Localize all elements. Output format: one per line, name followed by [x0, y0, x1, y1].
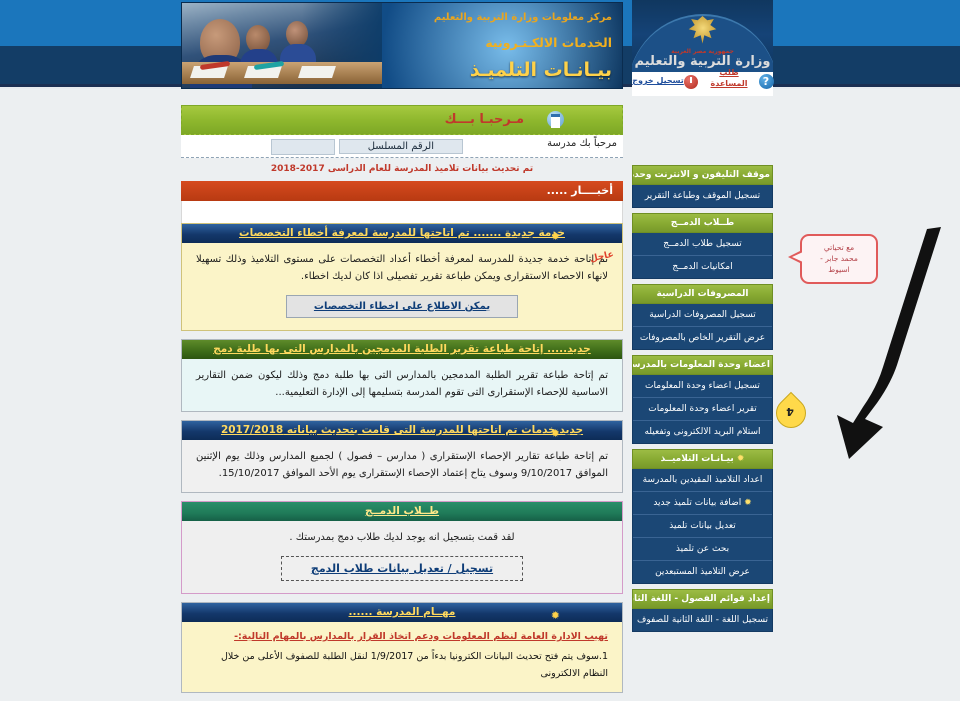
- sidebar-group-items: تسجيل اللغة - اللغة الثانية للصفوف: [632, 609, 773, 632]
- sidebar-group-header: ✹ بيـانـات التلاميــذ: [632, 449, 773, 469]
- question-mark-icon[interactable]: ?: [759, 74, 774, 89]
- sidebar-group-merge-students: طــلاب الدمــج تسجيل طلاب الدمــج امكاني…: [632, 213, 773, 279]
- school-tasks-title: مهــام المدرسة ......: [349, 606, 456, 618]
- announcement-card-title: جديد..... إتاحة طباعة تقرير الطلبة المدم…: [213, 343, 591, 355]
- sidebar-item-register-status-report[interactable]: تسجيل الموقف وطباعة التقرير: [633, 185, 772, 207]
- serial-number-field[interactable]: [271, 139, 335, 155]
- announcement-card-text: تم إتاحة خدمة جديدة للمدرسة لمعرفة أخطاء…: [196, 254, 608, 282]
- sidebar-group-items: اعداد التلاميذ المقيدين بالمدرسة ✹ اضافة…: [632, 469, 773, 584]
- merge-students-title: طــلاب الدمــج: [365, 505, 439, 517]
- sidebar-item-register-school-fees[interactable]: تسجيل المصروفات الدراسية: [633, 304, 772, 327]
- announcement-card-title: خدمة جديدة ....... تم اتاحتها للمدرسة لم…: [239, 227, 565, 239]
- sidebar-group-items: تسجيل طلاب الدمــج امكانيات الدمــج: [632, 233, 773, 279]
- school-welcome-label: مرحباً بك مدرسة: [547, 138, 617, 149]
- ministry-logo-block: جمهورية مصر العربية وزارة التربية والتعل…: [632, 0, 773, 72]
- banner-paper-3: [298, 66, 336, 78]
- school-tasks-item-1: 1.سوف يتم فتح تحديث البيانات الكترونيا ب…: [196, 648, 608, 682]
- sidebar-group-student-data: ✹ بيـانـات التلاميــذ اعداد التلاميذ الم…: [632, 449, 773, 584]
- sidebar-item-enrolled-count[interactable]: اعداد التلاميذ المقيدين بالمدرسة: [633, 469, 772, 492]
- sidebar-menu: موقف التليفون و الانترنت وحدة المعلومات …: [632, 165, 773, 637]
- sidebar-group-header: موقف التليفون و الانترنت وحدة المعلومات: [632, 165, 773, 185]
- news-spacer: [181, 201, 623, 223]
- sidebar-item-second-language[interactable]: تسجيل اللغة - اللغة الثانية للصفوف: [633, 609, 772, 631]
- serial-number-label: الرقم المسلسل: [339, 139, 463, 154]
- sidebar-group-header: اعضاء وحدة المعلومات بالمدرسة: [632, 355, 773, 375]
- welcome-info-row: مرحباً بك مدرسة الرقم المسلسل: [181, 135, 623, 158]
- sidebar-item-fees-report[interactable]: عرض التقرير الخاص بالمصروفات: [633, 327, 772, 349]
- sidebar-item-unit-members-report[interactable]: تقرير اعضاء وحدة المعلومات: [633, 398, 772, 421]
- merge-students-body: لقد قمت بتسجيل انه يوجد لديك طلاب دمج بم…: [182, 521, 622, 593]
- logout-link[interactable]: تسجيل خروج: [632, 76, 684, 85]
- document-icon: [547, 111, 564, 128]
- view-specialization-errors-link[interactable]: يمكن الاطلاع على اخطاء التخصصات: [286, 295, 518, 318]
- announcement-card: ✹ خدمة جديدة ....... تم اتاحتها للمدرسة …: [181, 223, 623, 331]
- site-banner: مركز معلومات وزارة التربية والتعليم الخد…: [181, 2, 623, 89]
- sidebar-item-excluded-students[interactable]: عرض التلاميذ المستبعدين: [633, 561, 772, 583]
- sidebar-group-school-fees: المصروفات الدراسية تسجيل المصروفات الدرا…: [632, 284, 773, 350]
- step-marker-number: 4: [776, 398, 804, 426]
- banner-line-2: الخدمات الالكـتـرونية: [485, 35, 612, 50]
- sidebar-item-merge-capabilities[interactable]: امكانيات الدمــج: [633, 256, 772, 278]
- sidebar-group-class-lists: إعداد قوائم الفصول - اللغة الثانية تسجيل…: [632, 589, 773, 632]
- edit-merge-students-link[interactable]: تسجيل / تعديل بيانات طلاب الدمج: [281, 556, 523, 581]
- announcement-card-header: ✹ جديد خدمات تم اتاحتها للمدرسة التى قام…: [182, 421, 622, 440]
- announcement-card-text: تم إتاحة طباعة تقرير الطلبة المدمجين بال…: [196, 370, 608, 398]
- announcement-card-body: تم إتاحة طباعة تقارير الإحصاء الإستقرارى…: [182, 440, 622, 492]
- data-update-note: تم تحديث بيانات تلاميذ المدرسة للعام الد…: [181, 164, 623, 174]
- sidebar-item-edit-student[interactable]: تعديل بيانات تلميذ: [633, 515, 772, 538]
- sidebar-item-activate-email[interactable]: استلام البريد الالكترونى وتفعيله: [633, 421, 772, 443]
- star-icon: ✹: [744, 498, 752, 508]
- urgent-badge: عاجل: [588, 247, 615, 269]
- power-icon[interactable]: [684, 75, 698, 89]
- sidebar-group-items: تسجيل اعضاء وحدة المعلومات تقرير اعضاء و…: [632, 375, 773, 444]
- sidebar-group-header-label: بيـانـات التلاميــذ: [661, 454, 734, 464]
- sidebar-item-register-unit-members[interactable]: تسجيل اعضاء وحدة المعلومات: [633, 375, 772, 398]
- sidebar-group-phone-internet: موقف التليفون و الانترنت وحدة المعلومات …: [632, 165, 773, 208]
- sidebar-item-add-student[interactable]: ✹ اضافة بيانات تلميذ جديد: [633, 492, 772, 515]
- announcement-card: جديد..... إتاحة طباعة تقرير الطلبة المدم…: [181, 339, 623, 412]
- sidebar-item-register-merge-students[interactable]: تسجيل طلاب الدمــج: [633, 233, 772, 256]
- sidebar-item-add-student-label: اضافة بيانات تلميذ جديد: [653, 498, 741, 508]
- help-request-link[interactable]: طلب المساعدة: [703, 67, 755, 89]
- merge-students-card: طــلاب الدمــج لقد قمت بتسجيل انه يوجد ل…: [181, 501, 623, 594]
- announcement-card: ✹ جديد خدمات تم اتاحتها للمدرسة التى قام…: [181, 420, 623, 493]
- announcement-card-body: عاجل تم إتاحة خدمة جديدة للمدرسة لمعرفة …: [182, 243, 622, 330]
- news-header-bar: أخبــــار .....: [181, 181, 623, 201]
- merge-students-text: لقد قمت بتسجيل انه يوجد لديك طلاب دمج بم…: [196, 529, 608, 546]
- announcement-card-header: جديد..... إتاحة طباعة تقرير الطلبة المدم…: [182, 340, 622, 359]
- sidebar-item-search-student[interactable]: بحث عن تلميذ: [633, 538, 772, 561]
- welcome-strip: مـرحبـا بـــك: [181, 105, 623, 135]
- star-icon: ✹: [737, 454, 745, 464]
- sidebar-group-items: تسجيل الموقف وطباعة التقرير: [632, 185, 773, 208]
- announcement-card-header: ✹ خدمة جديدة ....... تم اتاحتها للمدرسة …: [182, 224, 622, 243]
- main-content-column: مـرحبـا بـــك مرحباً بك مدرسة الرقم المس…: [181, 105, 623, 701]
- banner-photo-classroom: [182, 3, 382, 88]
- announcement-card-title: جديد خدمات تم اتاحتها للمدرسة التى قامت …: [221, 424, 583, 436]
- school-tasks-card: ✹ مهــام المدرسة ...... تهيب الادارة الع…: [181, 602, 623, 693]
- merge-students-header: طــلاب الدمــج: [182, 502, 622, 521]
- sidebar-group-info-unit-members: اعضاء وحدة المعلومات بالمدرسة تسجيل اعضا…: [632, 355, 773, 444]
- school-tasks-header: ✹ مهــام المدرسة ......: [182, 603, 622, 622]
- author-callout: مع تحياتي محمد جابر - اسيوط: [800, 234, 878, 284]
- announcement-card-body: تم إتاحة طباعة تقرير الطلبة المدمجين بال…: [182, 359, 622, 411]
- banner-line-3: بيـانـات التلميـذ: [470, 59, 612, 81]
- sidebar-group-header: إعداد قوائم الفصول - اللغة الثانية: [632, 589, 773, 609]
- sidebar-group-header: المصروفات الدراسية: [632, 284, 773, 304]
- welcome-greeting: مـرحبـا بـــك: [445, 112, 524, 127]
- sidebar-group-header: طــلاب الدمــج: [632, 213, 773, 233]
- banner-line-1: مركز معلومات وزارة التربية والتعليم: [434, 12, 612, 23]
- callout-line-2: محمد جابر -: [802, 253, 876, 264]
- help-icon-wrap[interactable]: ?: [755, 74, 777, 94]
- callout-line-3: اسيوط: [802, 264, 876, 275]
- school-tasks-intro: تهيب الادارة العامة لنظم المعلومات ودعم …: [196, 628, 608, 645]
- announcement-card-text: تم إتاحة طباعة تقارير الإحصاء الإستقرارى…: [196, 451, 608, 479]
- callout-line-1: مع تحياتي: [802, 242, 876, 253]
- sidebar-group-items: تسجيل المصروفات الدراسية عرض التقرير الخ…: [632, 304, 773, 350]
